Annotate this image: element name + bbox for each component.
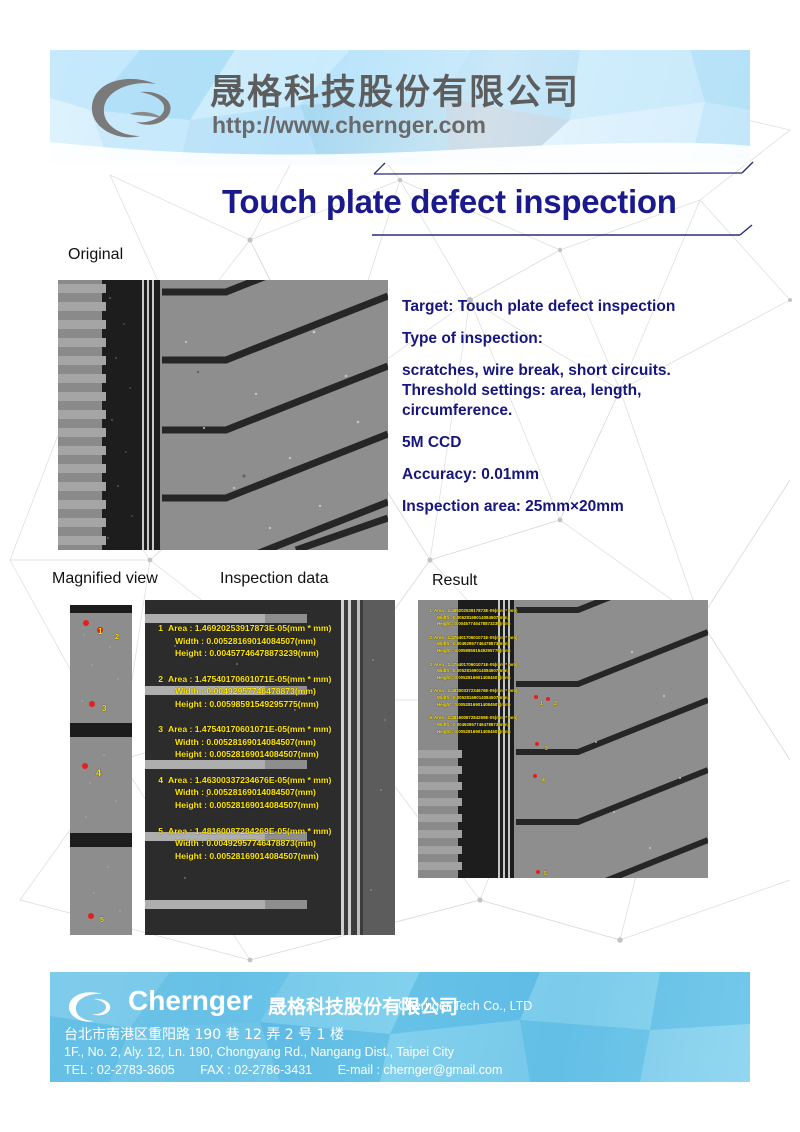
result-row-area: 1Area : 1.46920253917873E-05(mm * mm) — [424, 608, 594, 615]
data-row-height: Height : 0.00598591549295775(mm) — [145, 698, 395, 711]
spec-type-header: Type of inspection: — [402, 330, 752, 348]
data-row-area: 1Area : 1.46920253917873E-05(mm * mm) — [145, 622, 395, 635]
header-website-url[interactable]: http://www.chernger.com — [212, 112, 486, 139]
data-row-width: Width : 0.00528169014084507(mm) — [145, 786, 395, 799]
result-marker-label-5: 5 — [544, 871, 547, 877]
header-divider-rule — [370, 160, 755, 176]
footer-brand-name: Chernger — [128, 985, 252, 1017]
magnified-marker-dot-4 — [82, 763, 88, 769]
result-row-area: 5Area : 1.48160087284269E-05(mm * mm) — [424, 715, 594, 722]
result-row-height: Height : 0.00457746478873239(mm) — [424, 621, 594, 628]
footer-fax: FAX : 02-2786-3431 — [200, 1063, 312, 1077]
header-company-name: 晟格科技股份有限公司 — [210, 64, 580, 115]
title-underline-rule — [372, 224, 754, 238]
footer-company-en: Chernger Tech Co., LTD — [398, 999, 532, 1013]
footer-banner: Chernger 晟格科技股份有限公司 Chernger Tech Co., L… — [50, 972, 750, 1082]
specification-text-block: Target: Touch plate defect inspection Ty… — [402, 298, 752, 516]
data-entry-index: 2 — [145, 673, 163, 686]
spec-type-detail: scratches, wire break, short circuits. — [402, 362, 752, 380]
result-marker-label-3: 3 — [545, 746, 548, 752]
data-entry-index: 5 — [145, 825, 163, 838]
chernger-swirl-logo-icon — [78, 66, 198, 146]
data-entry-index: 4 — [145, 774, 163, 787]
label-inspection-data: Inspection data — [220, 570, 329, 588]
data-row-area: 4Area : 1.46300337234676E-05(mm * mm) — [145, 774, 395, 787]
data-row-width: Width : 0.00492957746478873(mm) — [145, 837, 395, 850]
inspection-data-list: 1Area : 1.46920253917873E-05(mm * mm)Wid… — [145, 600, 395, 935]
result-marker-dot-4 — [533, 774, 537, 778]
data-row-width: Width : 0.00492957746478873(mm) — [145, 685, 395, 698]
data-row-height: Height : 0.00528169014084507(mm) — [145, 799, 395, 812]
result-marker-dot-3 — [535, 742, 539, 746]
magnified-marker-label-1: 1 — [98, 627, 102, 636]
result-marker-label-2: 2 — [554, 701, 557, 707]
result-entry-index: 3 — [424, 662, 432, 669]
result-row-height: Height : 0.00528169014084507(mm) — [424, 675, 594, 682]
result-data-entry: 3Area : 1.47540170601071E-05(mm * mm)Wid… — [424, 662, 594, 682]
inspection-data-entry: 3Area : 1.47540170601071E-05(mm * mm)Wid… — [145, 723, 395, 761]
label-original: Original — [68, 246, 123, 264]
result-marker-dot-2 — [546, 697, 550, 701]
result-data-entry: 2Area : 1.47540170601071E-05(mm * mm)Wid… — [424, 635, 594, 655]
footer-swirl-logo-icon — [64, 986, 120, 1026]
spec-ccd: 5M CCD — [402, 434, 752, 452]
data-entry-index: 1 — [145, 622, 163, 635]
data-row-area: 2Area : 1.47540170601071E-05(mm * mm) — [145, 673, 395, 686]
spec-accuracy: Accuracy: 0.01mm — [402, 466, 752, 484]
data-row-area: 5Area : 1.48160087284269E-05(mm * mm) — [145, 825, 395, 838]
result-image-panel[interactable]: 1Area : 1.46920253917873E-05(mm * mm)Wid… — [418, 600, 708, 878]
data-row-width: Width : 0.00528169014084507(mm) — [145, 736, 395, 749]
result-entry-index: 5 — [424, 715, 432, 722]
data-entry-index: 3 — [145, 723, 163, 736]
result-marker-dot-5 — [536, 870, 540, 874]
magnified-marker-dot-1 — [83, 620, 89, 626]
result-data-entry: 5Area : 1.48160087284269E-05(mm * mm)Wid… — [424, 715, 594, 735]
magnified-marker-label-2: 2 — [115, 634, 119, 641]
label-result: Result — [432, 572, 477, 590]
footer-address-en: 1F., No. 2, Aly. 12, Ln. 190, Chongyang … — [64, 1045, 454, 1059]
data-row-width: Width : 0.00528169014084507(mm) — [145, 635, 395, 648]
inspection-data-entry: 1Area : 1.46920253917873E-05(mm * mm)Wid… — [145, 622, 395, 660]
data-row-height: Height : 0.00528169014084507(mm) — [145, 748, 395, 761]
inspection-data-entry: 4Area : 1.46300337234676E-05(mm * mm)Wid… — [145, 774, 395, 812]
spec-inspection-area: Inspection area: 25mm×20mm — [402, 498, 752, 516]
result-row-height: Height : 0.00528169014084507(mm) — [424, 702, 594, 709]
footer-tel: TEL : 02-2783-3605 — [64, 1063, 175, 1077]
page-title: Touch plate defect inspection — [222, 183, 677, 221]
result-row-height: Height : 0.00528169014084507(mm) — [424, 729, 594, 736]
spec-target: Target: Touch plate defect inspection — [402, 298, 752, 316]
result-row-width: Width : 0.00528169014084507(mm) — [424, 695, 594, 702]
result-data-overlay: 1Area : 1.46920253917873E-05(mm * mm)Wid… — [424, 608, 594, 742]
inspection-data-entry: 2Area : 1.47540170601071E-05(mm * mm)Wid… — [145, 673, 395, 711]
result-entry-index: 2 — [424, 635, 432, 642]
result-row-height: Height : 0.00598591549295775(mm) — [424, 648, 594, 655]
result-marker-label-4: 4 — [542, 778, 545, 784]
result-entry-index: 1 — [424, 608, 432, 615]
data-row-area: 3Area : 1.47540170601071E-05(mm * mm) — [145, 723, 395, 736]
magnified-marker-dot-3 — [89, 701, 95, 707]
original-image-panel[interactable] — [58, 280, 388, 550]
data-row-height: Height : 0.00528169014084507(mm) — [145, 850, 395, 863]
result-row-width: Width : 0.00528169014084507(mm) — [424, 668, 594, 675]
inspection-data-entry: 5Area : 1.48160087284269E-05(mm * mm)Wid… — [145, 825, 395, 863]
magnified-marker-label-3: 3 — [102, 704, 106, 713]
magnified-marker-dot-5 — [88, 913, 94, 919]
spec-threshold-1: Threshold settings: area, length, — [402, 382, 752, 400]
spec-threshold-2: circumference. — [402, 402, 752, 420]
magnified-marker-label-4: 4 — [96, 768, 101, 778]
magnified-view-panel[interactable]: 1 2 3 4 5 — [70, 605, 132, 935]
footer-contact-line: TEL : 02-2783-3605 FAX : 02-2786-3431 E-… — [64, 1063, 524, 1077]
original-microscope-image — [58, 280, 388, 550]
header-banner: 晟格科技股份有限公司 http://www.chernger.com — [50, 50, 750, 165]
result-marker-dot-1 — [534, 695, 538, 699]
magnified-marker-label-5: 5 — [100, 917, 104, 924]
label-magnified-view: Magnified view — [52, 570, 158, 588]
data-row-height: Height : 0.00457746478873239(mm) — [145, 647, 395, 660]
result-marker-label-1: 1 — [540, 701, 543, 707]
result-entry-index: 4 — [424, 688, 432, 695]
result-data-entry: 1Area : 1.46920253917873E-05(mm * mm)Wid… — [424, 608, 594, 628]
result-row-width: Width : 0.00492957746478873(mm) — [424, 722, 594, 729]
footer-email[interactable]: E-mail : chernger@gmail.com — [338, 1063, 503, 1077]
inspection-data-panel[interactable]: 1Area : 1.46920253917873E-05(mm * mm)Wid… — [145, 600, 395, 935]
footer-address-cn: 台北市南港区重阳路 190 巷 12 弄 2 号 1 楼 — [64, 1024, 344, 1044]
result-data-entry: 4Area : 1.46300337234676E-05(mm * mm)Wid… — [424, 688, 594, 708]
